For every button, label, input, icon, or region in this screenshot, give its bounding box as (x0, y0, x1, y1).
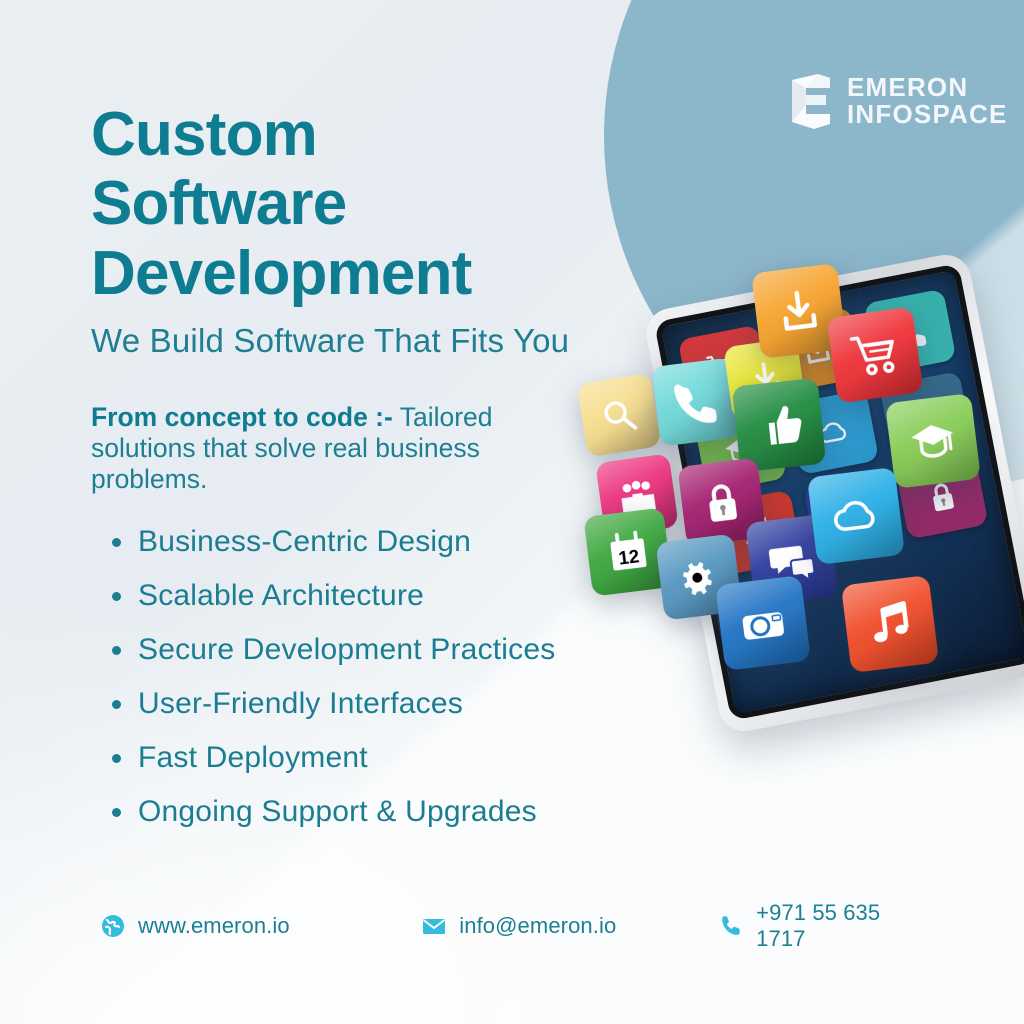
feature-list-item: Ongoing Support & Upgrades (112, 785, 555, 839)
feature-list-item: Scalable Architecture (112, 569, 555, 623)
feature-list-item-label: Scalable Architecture (138, 579, 424, 613)
bullet-dot-icon (112, 754, 121, 763)
app-tile-music-note (841, 575, 939, 673)
feature-list: Business-Centric DesignScalable Architec… (112, 515, 555, 839)
calendar-icon: 12 (602, 526, 654, 578)
headline-line-1: Custom (91, 100, 691, 169)
page-title: Custom Software Development (91, 100, 691, 308)
contact-email[interactable]: info@emeron.io (421, 913, 718, 939)
faceted-e-logo-icon (788, 72, 834, 130)
poster-canvas: 12 EMERON INFOSPACE Custom Software Deve… (0, 0, 1024, 1024)
music-note-icon (862, 596, 919, 653)
cloud-icon (828, 488, 885, 545)
phone-icon (718, 913, 744, 939)
contact-phone[interactable]: +971 55 635 1717 (718, 900, 930, 952)
headline-line-3: Development (91, 239, 691, 308)
bullet-dot-icon (112, 592, 121, 601)
feature-list-item-label: Secure Development Practices (138, 633, 555, 667)
subtitle: We Build Software That Fits You (91, 322, 691, 360)
bullet-dot-icon (112, 808, 121, 817)
app-tile-camera (715, 575, 811, 671)
lock-icon (696, 476, 748, 528)
camera-icon (735, 595, 791, 651)
brand-logo: EMERON INFOSPACE (788, 72, 1008, 130)
feature-list-item-label: Fast Deployment (138, 741, 368, 775)
headline-block: Custom Software Development We Build Sof… (91, 100, 691, 495)
svg-text:12: 12 (617, 545, 640, 568)
email-text: info@emeron.io (459, 913, 616, 939)
logo-line-1: EMERON (847, 74, 1008, 101)
globe-icon (100, 913, 126, 939)
logo-line-2: INFOSPACE (847, 101, 1008, 128)
feature-list-item-label: Ongoing Support & Upgrades (138, 795, 537, 829)
bullet-dot-icon (112, 538, 121, 547)
feature-list-item-label: User-Friendly Interfaces (138, 687, 463, 721)
website-text: www.emeron.io (138, 913, 290, 939)
app-tile-cloud (807, 467, 905, 565)
feature-list-item: Business-Centric Design (112, 515, 555, 569)
graduation-cap-icon (905, 413, 961, 469)
headline-line-2: Software (91, 169, 691, 238)
feature-list-item: Secure Development Practices (112, 623, 555, 677)
envelope-icon (421, 913, 447, 939)
app-tile-cart (826, 306, 923, 403)
bullet-dot-icon (112, 646, 121, 655)
thumbs-up-icon (752, 398, 807, 453)
lead-bold-prefix: From concept to code :- (91, 402, 393, 432)
download-icon (771, 283, 827, 339)
contact-website[interactable]: www.emeron.io (100, 913, 421, 939)
feature-list-item-label: Business-Centric Design (138, 525, 471, 559)
feature-list-item: Fast Deployment (112, 731, 555, 785)
bullet-dot-icon (112, 700, 121, 709)
app-tile-graduation-cap (885, 393, 981, 489)
cart-icon (847, 327, 903, 383)
contact-bar: www.emeron.io info@emeron.io +971 55 635… (100, 900, 930, 952)
phone-text: +971 55 635 1717 (756, 900, 930, 952)
lead-paragraph: From concept to code :- Tailored solutio… (91, 402, 581, 495)
feature-list-item: User-Friendly Interfaces (112, 677, 555, 731)
